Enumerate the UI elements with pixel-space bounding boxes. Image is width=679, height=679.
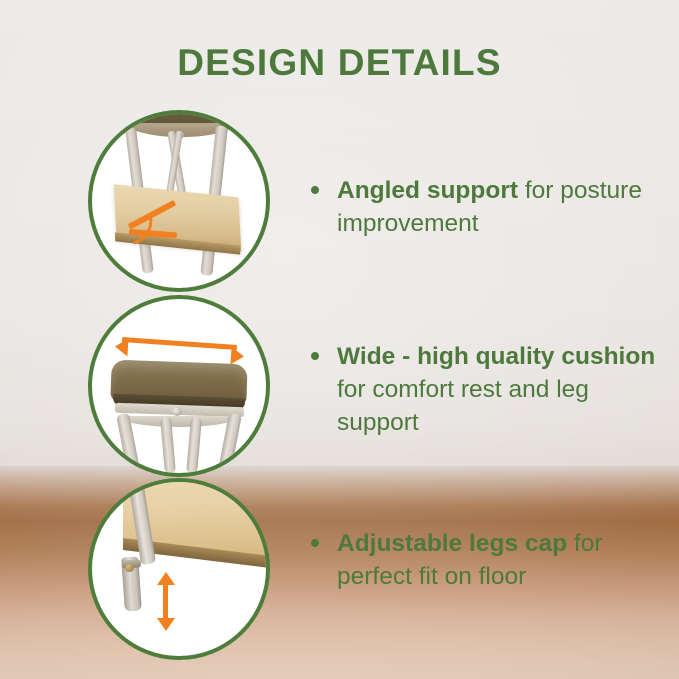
feature-text: Angled support for posture improvement <box>305 174 665 240</box>
bullet-dot-icon <box>311 352 319 360</box>
cushion-photo <box>88 295 270 477</box>
width-arrow-head-left-icon <box>114 338 128 357</box>
feature-text: Adjustable legs cap for perfect fit on f… <box>305 527 665 593</box>
feature-text: Wide - high quality cushion for comfort … <box>305 340 665 439</box>
feature-bold-label: Angled support <box>337 177 518 204</box>
feature-bold-label: Wide - high quality cushion <box>337 343 655 370</box>
design-details-infographic: DESIGN DETAILS <box>0 0 679 679</box>
cushion-bolt <box>172 407 182 416</box>
width-arrow-line-icon <box>122 337 237 350</box>
height-arrow-head-down-icon <box>157 618 175 631</box>
feature-normal-label: for comfort rest and leg support <box>337 376 589 436</box>
adjustable-leg-cap-illustration <box>92 482 266 656</box>
feature-item-angled-support: Angled support for posture improvement <box>305 174 665 240</box>
angled-footrest-photo <box>88 110 270 292</box>
height-arrow-head-up-icon <box>157 572 175 585</box>
frame-brace <box>118 416 240 427</box>
width-arrow-head-right-icon <box>231 346 245 365</box>
bullet-dot-icon <box>311 186 319 194</box>
angled-footrest-illustration <box>92 114 266 288</box>
leg-cap-screw <box>125 564 134 572</box>
feature-item-wide-cushion: Wide - high quality cushion for comfort … <box>305 340 665 439</box>
cushion-illustration <box>92 299 266 473</box>
adjustable-leg-cap-photo <box>88 478 270 660</box>
bullet-dot-icon <box>311 539 319 547</box>
feature-bold-label: Adjustable legs cap <box>337 530 567 557</box>
page-title: DESIGN DETAILS <box>0 42 679 84</box>
feature-item-adjustable-legs-cap: Adjustable legs cap for perfect fit on f… <box>305 527 665 593</box>
